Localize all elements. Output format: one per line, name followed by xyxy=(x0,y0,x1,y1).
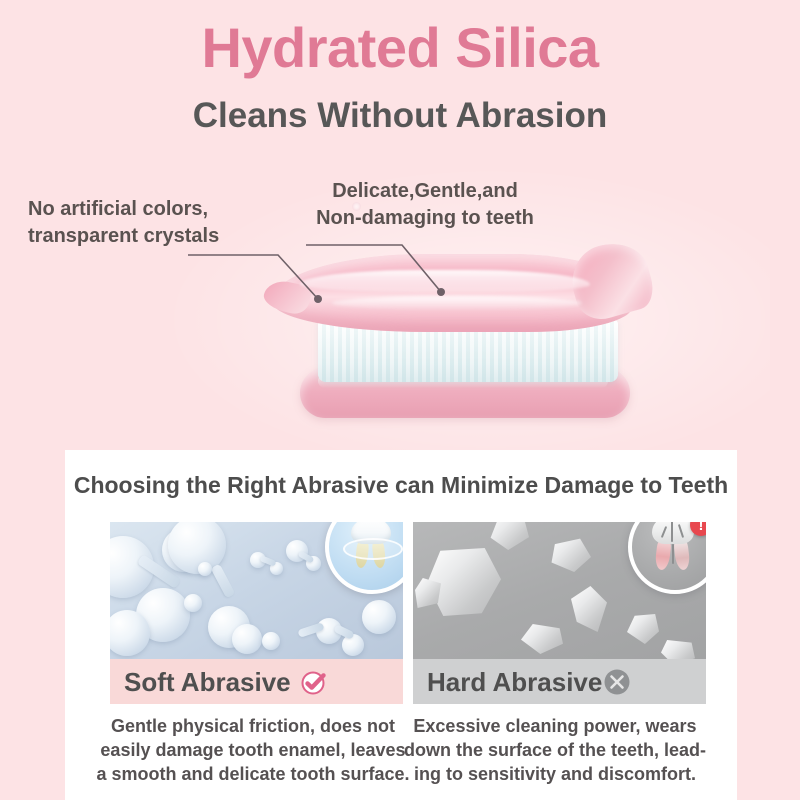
infographic-canvas: Hydrated Silica Cleans Without Abrasion … xyxy=(0,0,800,800)
callout-delicate-gentle: Delicate,Gentle,and Non-damaging to teet… xyxy=(300,178,550,232)
healthy-tooth-icon xyxy=(351,522,391,570)
page-subtitle: Cleans Without Abrasion xyxy=(0,98,800,133)
label-bar-soft-abrasive: Soft Abrasive xyxy=(110,659,403,704)
inset-healthy-tooth xyxy=(325,522,403,594)
x-circle-icon xyxy=(602,667,632,697)
check-circle-icon xyxy=(299,667,329,697)
page-title: Hydrated Silica xyxy=(0,20,800,76)
protection-ring-icon xyxy=(343,538,403,560)
label-bar-hard-abrasive: Hard Abrasive xyxy=(413,659,706,704)
inset-damaged-tooth: ! xyxy=(628,522,706,594)
toothpaste-highlight-lower xyxy=(332,296,582,310)
toothpaste-gel xyxy=(272,240,644,335)
comparison-card-title: Choosing the Right Abrasive can Minimize… xyxy=(65,472,737,499)
soft-abrasive-label: Soft Abrasive xyxy=(124,669,291,695)
panel-soft-abrasive: Soft Abrasive xyxy=(110,522,403,704)
hard-abrasive-photo: ! xyxy=(413,522,706,659)
toothpaste-highlight-upper xyxy=(300,270,590,292)
hard-abrasive-description: Excessive cleaning power, wears down the… xyxy=(395,715,715,786)
damaged-tooth-icon xyxy=(652,522,694,572)
soft-abrasive-description: Gentle physical friction, does not easil… xyxy=(93,715,413,786)
comparison-card: Choosing the Right Abrasive can Minimize… xyxy=(65,450,737,800)
soft-abrasive-photo xyxy=(110,522,403,659)
callout-no-artificial-colors: No artificial colors, transparent crysta… xyxy=(28,196,219,250)
hard-abrasive-label: Hard Abrasive xyxy=(427,669,602,695)
panel-hard-abrasive: ! Hard Abrasive xyxy=(413,522,706,704)
